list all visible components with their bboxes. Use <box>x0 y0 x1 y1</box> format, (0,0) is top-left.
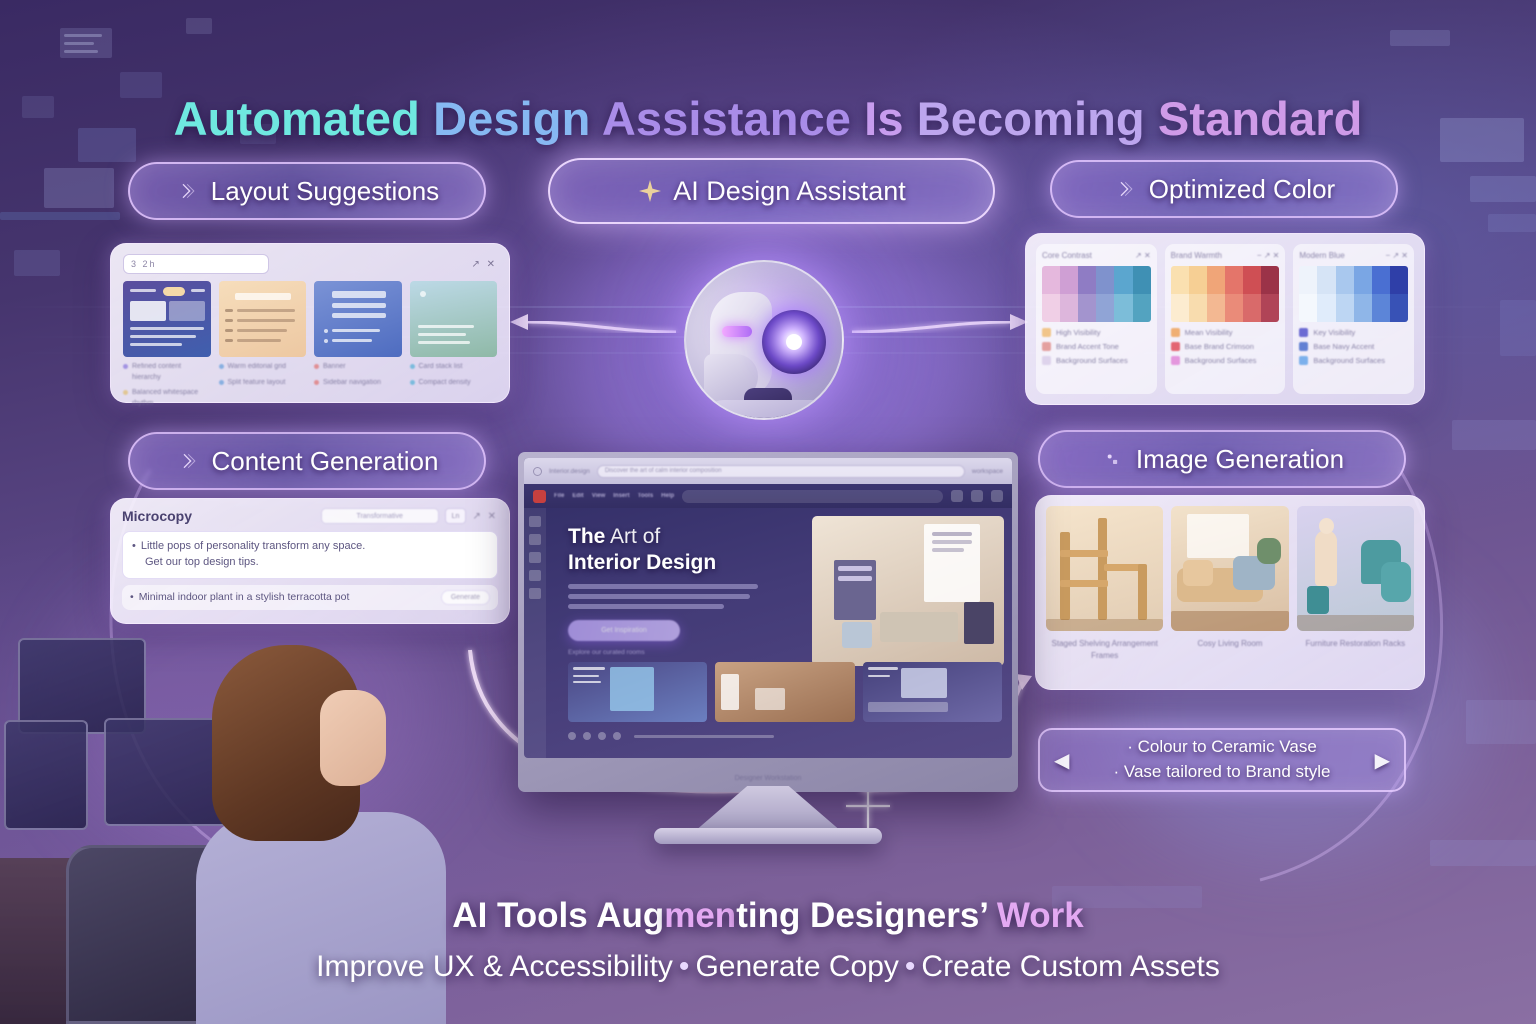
menu-item-view[interactable]: View <box>592 493 606 499</box>
monitor-screen: Interior.design Discover the art of calm… <box>524 458 1012 758</box>
layout-caption-text: Sidebar navigation <box>323 378 381 389</box>
designer-monitor: Interior.design Discover the art of calm… <box>518 452 1018 792</box>
palette-window-controls[interactable]: − ↗ ✕ <box>1257 251 1280 260</box>
menu-item-insert[interactable]: Insert <box>613 493 629 499</box>
monitor-chin-label: Designer Workstation <box>518 775 1018 782</box>
microcopy-title: Microcopy <box>122 508 192 524</box>
microcopy-header: Microcopy Transformative Ln ↗ ✕ <box>122 508 498 524</box>
asset-prompt-carousel[interactable]: ◀ · Colour to Ceramic Vase · Vase tailor… <box>1038 728 1406 792</box>
pill-optimized-color[interactable]: Optimized Color <box>1050 160 1398 218</box>
four-point-star-icon <box>637 178 663 204</box>
layout-search-input[interactable]: 3 2h <box>123 254 269 274</box>
image-caption: Cosy Living Room <box>1171 638 1288 661</box>
layout-thumb-item[interactable]: Banner Sidebar navigation <box>314 281 402 409</box>
legend-item: High Visibility <box>1042 328 1151 337</box>
layout-window-controls[interactable]: ↗ ✕ <box>471 259 497 270</box>
layout-thumb-item[interactable]: Warm editorial grid Split feature layout <box>219 281 307 409</box>
legend-item: Background Surfaces <box>1171 356 1280 365</box>
page-dot[interactable] <box>598 732 606 740</box>
monitor-base <box>654 828 882 844</box>
layout-caption-text: Banner <box>323 362 346 373</box>
layout-thumb-preview <box>123 281 211 357</box>
hero-cta-button[interactable]: Get Inspiration <box>568 620 680 641</box>
footer-separator: • <box>905 950 916 983</box>
toolbar-icon[interactable] <box>991 490 1003 502</box>
footer-headline-part-2: ting Designers’ <box>736 896 997 935</box>
page-dot[interactable] <box>613 732 621 740</box>
title-part-4: Is <box>864 92 917 145</box>
page-dot[interactable] <box>568 732 576 740</box>
hero-headline-rest: Art of <box>605 525 660 548</box>
menu-item-tools[interactable]: Tools <box>638 493 654 499</box>
layout-thumb-preview <box>219 281 307 357</box>
legend-label: Background Surfaces <box>1313 356 1385 365</box>
pill-assistant-label: AI Design Assistant <box>673 176 906 207</box>
rail-icon[interactable] <box>529 588 541 599</box>
layout-caption-text: Balanced whitespace rhythm <box>132 388 211 409</box>
background-monitor <box>4 720 88 830</box>
site-side-rail <box>524 508 546 758</box>
image-caption-row: Staged Shelving Arrangement Frames Cosy … <box>1046 638 1414 661</box>
palette-swatch-grid <box>1299 266 1408 322</box>
layout-caption-text: Compact density <box>419 378 471 389</box>
toolbar-icon[interactable] <box>951 490 963 502</box>
robot-eye <box>722 326 752 337</box>
carousel-pagination[interactable] <box>568 732 774 740</box>
rail-icon[interactable] <box>529 516 541 527</box>
hero-headline-strong: The <box>568 525 605 548</box>
pill-content-label: Content Generation <box>212 446 439 477</box>
content-card[interactable] <box>715 662 854 722</box>
hero-room-image <box>812 516 1004 666</box>
content-card[interactable] <box>863 662 1002 722</box>
legend-label: Key Visibility <box>1313 328 1355 337</box>
layout-thumb-grid: Refined content hierarchy Balanced white… <box>123 281 497 409</box>
pill-content-generation[interactable]: Content Generation <box>128 432 486 490</box>
pill-image-generation[interactable]: Image Generation <box>1038 430 1406 488</box>
microcopy-input[interactable]: Transformative <box>321 508 439 524</box>
palette-legend: Mean Visibility Base Brand Crimson Backg… <box>1171 328 1280 365</box>
rail-icon[interactable] <box>529 552 541 563</box>
layout-thumb-preview <box>314 281 402 357</box>
layout-thumb-item[interactable]: Refined content hierarchy Balanced white… <box>123 281 211 409</box>
microcopy-suggestion-card[interactable]: • Little pops of personality transform a… <box>122 531 498 579</box>
sparkle-icon <box>176 448 202 474</box>
legend-label: High Visibility <box>1056 328 1100 337</box>
image-generation-panel: Staged Shelving Arrangement Frames Cosy … <box>1035 495 1425 690</box>
content-card[interactable] <box>568 662 707 722</box>
microcopy-window-controls[interactable]: ↗ ✕ <box>472 511 498 522</box>
legend-label: Mean Visibility <box>1185 328 1233 337</box>
carousel-content: · Colour to Ceramic Vase · Vase tailored… <box>1069 735 1374 784</box>
palette-name: Core Contrast <box>1042 251 1092 260</box>
image-thumb[interactable] <box>1046 506 1163 631</box>
hero-paragraph <box>568 584 758 609</box>
layout-thumb-caption: Balanced whitespace rhythm <box>123 388 211 409</box>
footer-subline: Improve UX & Accessibility•Generate Copy… <box>0 950 1536 984</box>
microcopy-toolbar: Transformative Ln ↗ ✕ <box>321 508 498 524</box>
scroll-progress-bar[interactable] <box>634 735 774 738</box>
title-part-3: Assistance <box>602 92 864 145</box>
image-caption: Staged Shelving Arrangement Frames <box>1046 638 1163 661</box>
site-main-area: The Art of Interior Design Get Inspirati… <box>546 508 1012 758</box>
image-thumb-row <box>1046 506 1414 631</box>
toolbar-search-input[interactable] <box>682 490 943 503</box>
layout-thumb-caption: Split feature layout <box>219 378 307 389</box>
footer-block: AI Tools Augmenting Designers’ Work Impr… <box>0 896 1536 984</box>
layout-thumb-item[interactable]: Card stack list Compact density <box>410 281 498 409</box>
toolbar-icon[interactable] <box>971 490 983 502</box>
carousel-line: · Colour to Ceramic Vase <box>1069 735 1374 760</box>
layout-caption-text: Card stack list <box>419 362 463 373</box>
page-dot[interactable] <box>583 732 591 740</box>
image-thumb[interactable] <box>1297 506 1414 631</box>
browser-address-bar[interactable]: Discover the art of calm interior compos… <box>597 465 965 478</box>
app-logo-icon <box>533 490 546 503</box>
footer-headline: AI Tools Augmenting Designers’ Work <box>0 896 1536 936</box>
legend-label: Base Navy Accent <box>1313 342 1374 351</box>
layout-caption-text: Warm editorial grid <box>228 362 286 373</box>
palette-card-header: Modern Blue − ↗ ✕ <box>1299 251 1408 260</box>
layout-thumb-caption: Card stack list <box>410 362 498 373</box>
title-part-2: Design <box>433 92 602 145</box>
browser-tab-label[interactable]: Interior.design <box>549 468 590 475</box>
sparkle-icon <box>1113 176 1139 202</box>
image-caption: Furniture Restoration Racks <box>1297 638 1414 661</box>
pill-layout-label: Layout Suggestions <box>211 176 439 207</box>
palette-card[interactable]: Core Contrast ↗ ✕ High Visibility Brand … <box>1036 244 1157 394</box>
bullet-icon: • <box>132 539 136 555</box>
layout-thumb-caption: Banner <box>314 362 402 373</box>
browser-profile-label[interactable]: workspace <box>972 468 1003 475</box>
footer-headline-accent-2: Work <box>997 896 1084 935</box>
layout-caption-text: Split feature layout <box>228 378 286 389</box>
legend-item: Mean Visibility <box>1171 328 1280 337</box>
legend-label: Background Surfaces <box>1185 356 1257 365</box>
person-face <box>320 690 386 786</box>
pill-layout-suggestions[interactable]: Layout Suggestions <box>128 162 486 220</box>
palette-window-controls[interactable]: − ↗ ✕ <box>1385 251 1408 260</box>
optimized-color-panel: Core Contrast ↗ ✕ High Visibility Brand … <box>1025 233 1425 405</box>
legend-item: Background Surfaces <box>1042 356 1151 365</box>
carousel-line: · Vase tailored to Brand style <box>1069 760 1374 785</box>
pill-ai-design-assistant[interactable]: AI Design Assistant <box>548 158 995 224</box>
footer-separator: • <box>679 950 690 983</box>
footer-sub-2: Generate Copy <box>695 950 898 983</box>
image-thumb[interactable] <box>1171 506 1288 631</box>
legend-item: Base Brand Crimson <box>1171 342 1280 351</box>
menu-item-help[interactable]: Help <box>661 493 674 499</box>
footer-sub-3: Create Custom Assets <box>921 950 1219 983</box>
palette-card[interactable]: Modern Blue − ↗ ✕ Key Visibility Base Na… <box>1293 244 1414 394</box>
layout-panel-toolbar: 3 2h ↗ ✕ <box>123 254 497 274</box>
palette-window-controls[interactable]: ↗ ✕ <box>1135 251 1151 260</box>
pill-color-label: Optimized Color <box>1149 174 1335 205</box>
layout-suggestions-panel: 3 2h ↗ ✕ Refined content hierarchy <box>110 243 510 403</box>
legend-label: Background Surfaces <box>1056 356 1128 365</box>
legend-item: Brand Accent Tone <box>1042 342 1151 351</box>
palette-legend: High Visibility Brand Accent Tone Backgr… <box>1042 328 1151 365</box>
rail-icon[interactable] <box>529 570 541 581</box>
title-part-6: Standard <box>1158 92 1363 145</box>
footer-headline-accent: men <box>664 896 736 935</box>
microcopy-line: Get our top design tips. <box>132 555 488 571</box>
ai-assistant-avatar[interactable] <box>684 260 844 420</box>
legend-label: Base Brand Crimson <box>1185 342 1254 351</box>
sparkle-icon <box>1100 446 1126 472</box>
palette-card-header: Brand Warmth − ↗ ✕ <box>1171 251 1280 260</box>
sparkle-icon <box>175 178 201 204</box>
title-part-1: Automated <box>174 92 434 145</box>
layout-thumb-caption: Sidebar navigation <box>314 378 402 389</box>
layout-thumb-caption: Warm editorial grid <box>219 362 307 373</box>
page-title: Automated Design Assistance Is Becoming … <box>0 91 1536 146</box>
legend-item: Base Navy Accent <box>1299 342 1408 351</box>
menu-item-edit[interactable]: Edit <box>572 493 583 499</box>
app-toolbar: File Edit View Insert Tools Help <box>524 484 1012 508</box>
browser-tab-favicon <box>533 467 542 476</box>
palette-name: Modern Blue <box>1299 251 1344 260</box>
browser-tab-bar: Interior.design Discover the art of calm… <box>524 458 1012 484</box>
palette-card[interactable]: Brand Warmth − ↗ ✕ Mean Visibility Base … <box>1165 244 1286 394</box>
title-part-5: Becoming <box>917 92 1158 145</box>
legend-item: Background Surfaces <box>1299 356 1408 365</box>
palette-swatch-grid <box>1042 266 1151 322</box>
pill-image-label: Image Generation <box>1136 444 1344 475</box>
layout-thumb-caption: Refined content hierarchy <box>123 362 211 383</box>
microcopy-line-text: Little pops of personality transform any… <box>141 539 365 555</box>
robot-ear-module <box>762 310 826 374</box>
site-preview: The Art of Interior Design Get Inspirati… <box>524 508 1012 758</box>
infographic-canvas: Automated Design Assistance Is Becoming … <box>0 0 1536 1024</box>
robot-shoulder <box>702 400 834 420</box>
palette-swatch-grid <box>1171 266 1280 322</box>
legend-item: Key Visibility <box>1299 328 1408 337</box>
content-card-row <box>568 662 1002 722</box>
legend-label: Brand Accent Tone <box>1056 342 1119 351</box>
palette-name: Brand Warmth <box>1171 251 1222 260</box>
hero-headline-line2: Interior Design <box>568 551 716 574</box>
chevron-right-icon[interactable]: ▶ <box>1375 748 1390 773</box>
monitor-stand <box>694 786 842 832</box>
layout-thumb-preview <box>410 281 498 357</box>
footer-sub-1: Improve UX & Accessibility <box>316 950 673 983</box>
palette-legend: Key Visibility Base Navy Accent Backgrou… <box>1299 328 1408 365</box>
microcopy-line-text: Get our top design tips. <box>145 555 259 571</box>
footer-headline-part-1: AI Tools Aug <box>452 896 664 935</box>
palette-card-header: Core Contrast ↗ ✕ <box>1042 251 1151 260</box>
menu-item-file[interactable]: File <box>554 493 564 499</box>
microcopy-action-button[interactable]: Ln <box>445 508 467 524</box>
microcopy-line: • Little pops of personality transform a… <box>132 539 488 555</box>
layout-thumb-caption: Compact density <box>410 378 498 389</box>
rail-icon[interactable] <box>529 534 541 545</box>
layout-caption-text: Refined content hierarchy <box>132 362 211 383</box>
chevron-left-icon[interactable]: ◀ <box>1054 748 1069 773</box>
